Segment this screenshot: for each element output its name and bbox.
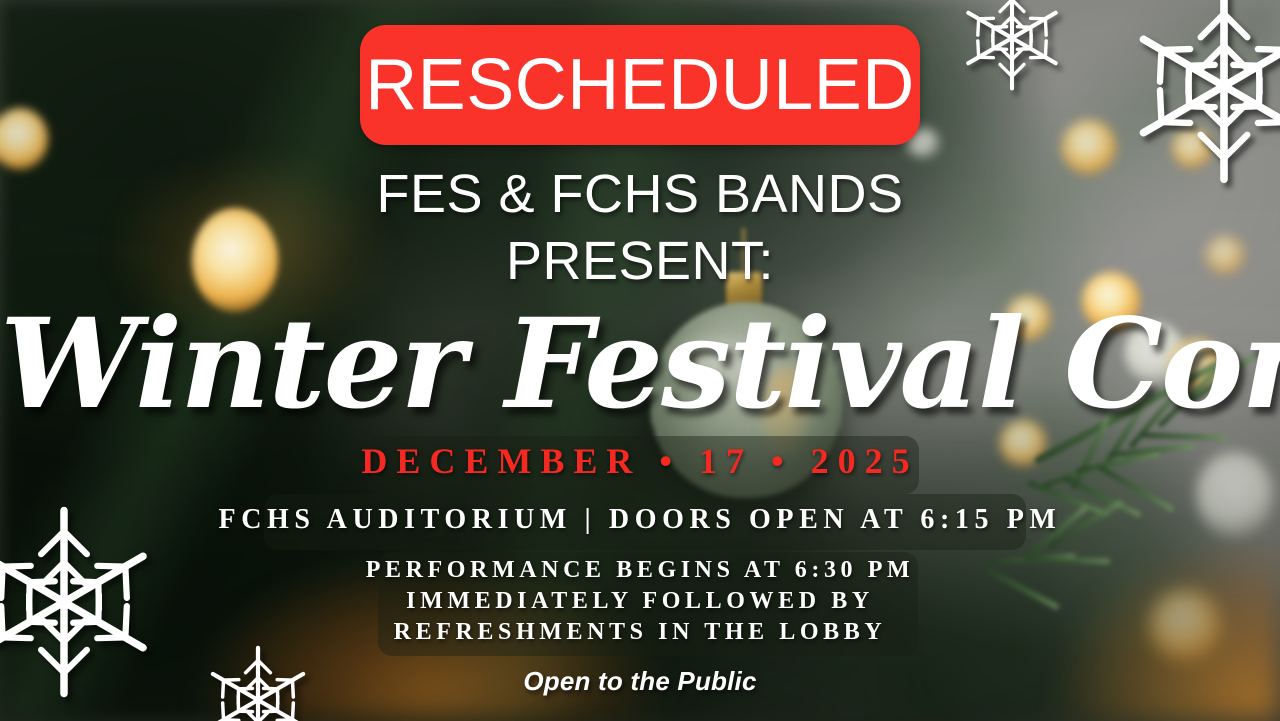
- event-title: Winter Festival Concert: [0, 300, 1280, 430]
- detail-line: PERFORMANCE BEGINS AT 6:30 PM: [0, 555, 1280, 586]
- presenter-line: FES & FCHS BANDS: [0, 163, 1280, 225]
- event-date: DECEMBER • 17 • 2025: [0, 440, 1280, 482]
- rescheduled-badge-label: RESCHEDULED: [365, 49, 915, 121]
- detail-line: REFRESHMENTS IN THE LOBBY: [0, 617, 1280, 648]
- detail-line: IMMEDIATELY FOLLOWED BY: [0, 586, 1280, 617]
- event-details: PERFORMANCE BEGINS AT 6:30 PM IMMEDIATEL…: [0, 555, 1280, 648]
- flyer-canvas: RESCHEDULED FES & FCHS BANDS PRESENT: Wi…: [0, 0, 1280, 721]
- presenter-present-word: PRESENT:: [0, 230, 1280, 292]
- rescheduled-badge: RESCHEDULED: [360, 25, 920, 145]
- event-venue: FCHS AUDITORIUM | DOORS OPEN AT 6:15 PM: [0, 504, 1280, 536]
- flyer-content: RESCHEDULED FES & FCHS BANDS PRESENT: Wi…: [0, 0, 1280, 721]
- admission-note: Open to the Public: [0, 666, 1280, 697]
